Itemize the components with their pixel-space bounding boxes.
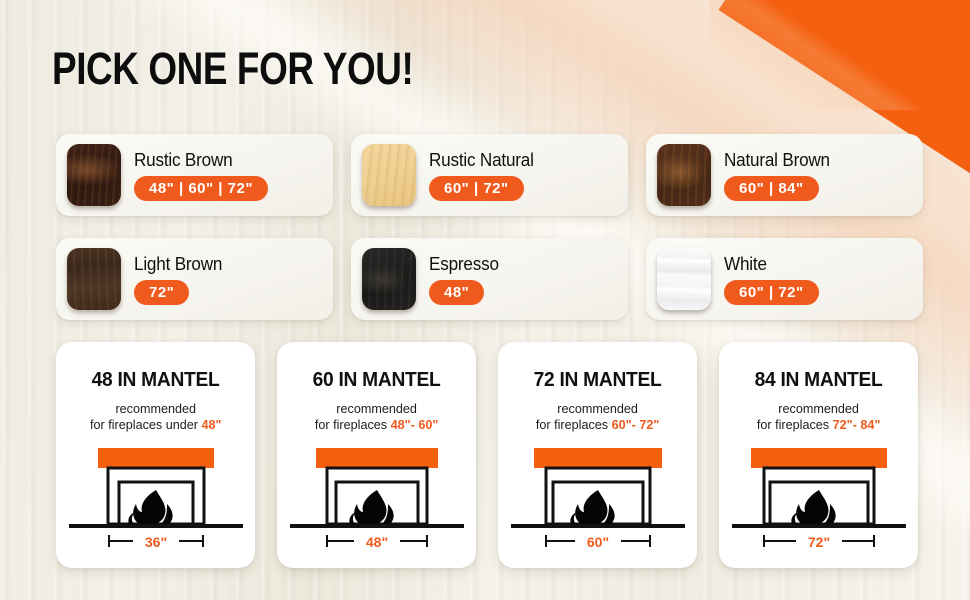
mantel-bar xyxy=(316,448,438,468)
dimension-label: 72" xyxy=(807,534,829,550)
swatch-card-rustic-natural[interactable]: Rustic Natural 60" | 72" xyxy=(351,134,628,216)
mantel-subtitle: recommended for fireplaces 72"- 84" xyxy=(757,401,880,433)
wood-swatch-espresso-icon xyxy=(362,248,416,310)
mantel-title: 72 IN MANTEL xyxy=(534,369,662,392)
swatch-info: Rustic Brown 48" | 60" | 72" xyxy=(134,150,268,201)
mantel-sub-range: 48" xyxy=(201,417,221,432)
mantel-card-84[interactable]: 84 IN MANTEL recommended for fireplaces … xyxy=(719,342,918,568)
swatch-name: Rustic Natural xyxy=(429,150,534,171)
color-swatch-grid: Rustic Brown 48" | 60" | 72" Rustic Natu… xyxy=(56,134,924,342)
dimension-label: 60" xyxy=(586,534,608,550)
mantel-sub-range: 60"- 72" xyxy=(611,417,659,432)
swatch-sizes-pill[interactable]: 48" xyxy=(429,280,484,305)
floor-line xyxy=(511,524,685,528)
fireplace-diagram-72: 60" xyxy=(503,442,693,560)
swatch-card-rustic-brown[interactable]: Rustic Brown 48" | 60" | 72" xyxy=(56,134,333,216)
mantel-sub-line1: recommended xyxy=(336,401,417,416)
mantel-sub-line1: recommended xyxy=(557,401,638,416)
flame-icon xyxy=(791,490,835,524)
swatch-name: Espresso xyxy=(429,254,499,275)
mantel-bar xyxy=(534,448,662,468)
swatch-name: Rustic Brown xyxy=(134,150,261,171)
mantel-bar xyxy=(98,448,214,468)
swatch-sizes-pill[interactable]: 60" | 84" xyxy=(724,176,819,201)
swatch-card-white[interactable]: White 60" | 72" xyxy=(646,238,923,320)
page-title: PICK ONE FOR YOU! xyxy=(52,46,413,92)
mantel-card-72[interactable]: 72 IN MANTEL recommended for fireplaces … xyxy=(498,342,697,568)
mantel-card-60[interactable]: 60 IN MANTEL recommended for fireplaces … xyxy=(277,342,476,568)
fireplace-diagram-60: 48" xyxy=(282,442,472,560)
fireplace-diagram-84: 72" xyxy=(724,442,914,560)
mantel-sub-prefix: for fireplaces xyxy=(536,417,612,432)
wood-swatch-rustic-brown-icon xyxy=(67,144,121,206)
swatch-info: Natural Brown 60" | 84" xyxy=(724,150,835,201)
wood-swatch-rustic-natural-icon xyxy=(362,144,416,206)
wood-swatch-natural-brown-icon xyxy=(657,144,711,206)
swatch-name: Light Brown xyxy=(134,254,222,275)
swatch-row-1: Rustic Brown 48" | 60" | 72" Rustic Natu… xyxy=(56,134,924,216)
mantel-card-48[interactable]: 48 IN MANTEL recommended for fireplaces … xyxy=(56,342,255,568)
mantel-sub-line1: recommended xyxy=(778,401,859,416)
flame-icon xyxy=(570,490,614,524)
dimension-label: 36" xyxy=(144,534,166,550)
swatch-info: Light Brown 72" xyxy=(134,254,227,305)
mantel-sub-prefix: for fireplaces xyxy=(757,417,833,432)
mantel-subtitle: recommended for fireplaces 48"- 60" xyxy=(315,401,438,433)
swatch-sizes-pill[interactable]: 72" xyxy=(134,280,189,305)
swatch-card-light-brown[interactable]: Light Brown 72" xyxy=(56,238,333,320)
flame-icon xyxy=(349,490,393,524)
floor-line xyxy=(69,524,243,528)
mantel-title: 84 IN MANTEL xyxy=(755,369,883,392)
mantel-sub-line1: recommended xyxy=(115,401,196,416)
flame-icon xyxy=(128,490,172,524)
wood-swatch-light-brown-icon xyxy=(67,248,121,310)
mantel-subtitle: recommended for fireplaces under 48" xyxy=(90,401,221,433)
swatch-row-2: Light Brown 72" Espresso 48" White 60" |… xyxy=(56,238,924,320)
swatch-name: White xyxy=(724,254,814,275)
swatch-card-espresso[interactable]: Espresso 48" xyxy=(351,238,628,320)
mantel-title: 48 IN MANTEL xyxy=(92,369,220,392)
wood-swatch-white-icon xyxy=(657,248,711,310)
fireplace-diagram-48: 36" xyxy=(61,442,251,560)
floor-line xyxy=(732,524,906,528)
mantel-subtitle: recommended for fireplaces 60"- 72" xyxy=(536,401,659,433)
swatch-name: Natural Brown xyxy=(724,150,830,171)
swatch-card-natural-brown[interactable]: Natural Brown 60" | 84" xyxy=(646,134,923,216)
mantel-sub-range: 48"- 60" xyxy=(390,417,438,432)
swatch-info: Rustic Natural 60" | 72" xyxy=(429,150,539,201)
swatch-sizes-pill[interactable]: 60" | 72" xyxy=(724,280,819,305)
mantel-sub-range: 72"- 84" xyxy=(832,417,880,432)
mantel-sub-prefix: for fireplaces xyxy=(315,417,391,432)
mantel-size-card-row: 48 IN MANTEL recommended for fireplaces … xyxy=(56,342,918,568)
dimension-label: 48" xyxy=(365,534,387,550)
swatch-info: Espresso 48" xyxy=(429,254,502,305)
swatch-sizes-pill[interactable]: 60" | 72" xyxy=(429,176,524,201)
swatch-sizes-pill[interactable]: 48" | 60" | 72" xyxy=(134,176,268,201)
floor-line xyxy=(290,524,464,528)
mantel-title: 60 IN MANTEL xyxy=(313,369,441,392)
mantel-bar xyxy=(751,448,887,468)
swatch-info: White 60" | 72" xyxy=(724,254,819,305)
promo-banner: PICK ONE FOR YOU! Rustic Brown 48" | 60"… xyxy=(0,0,970,600)
mantel-sub-prefix: for fireplaces under xyxy=(90,417,201,432)
